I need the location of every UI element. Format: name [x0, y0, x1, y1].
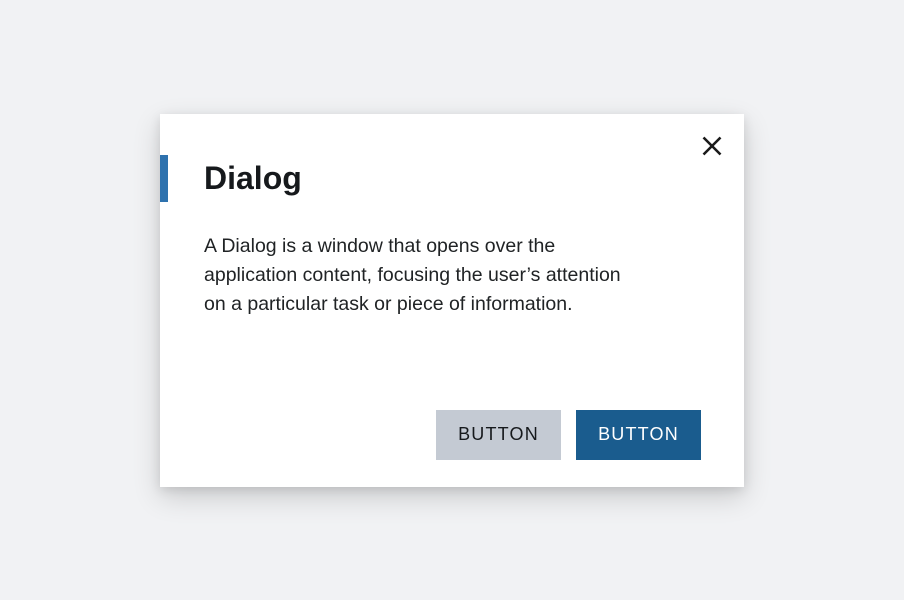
dialog-body-text: A Dialog is a window that opens over the… — [204, 232, 634, 319]
close-button[interactable] — [692, 126, 732, 166]
dialog-footer: BUTTON BUTTON — [160, 382, 744, 487]
dialog-overlay: Dialog A Dialog is a window that opens o… — [0, 0, 904, 600]
dialog: Dialog A Dialog is a window that opens o… — [160, 114, 744, 487]
dialog-secondary-button[interactable]: BUTTON — [436, 410, 561, 460]
dialog-title: Dialog — [204, 155, 302, 202]
dialog-primary-button[interactable]: BUTTON — [576, 410, 701, 460]
close-icon — [701, 135, 723, 157]
dialog-accent-bar — [160, 155, 168, 202]
